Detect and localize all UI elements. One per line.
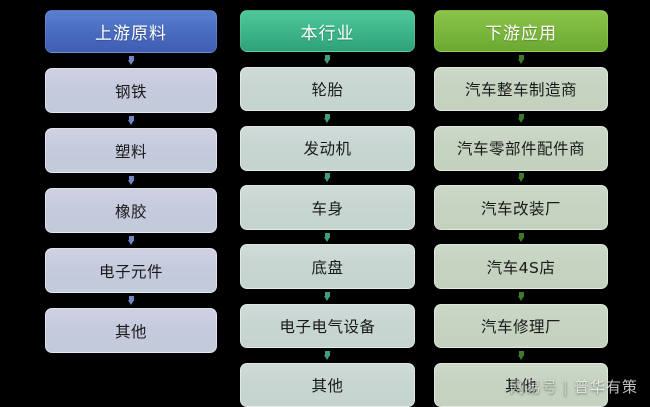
- connector-arrow: [434, 230, 608, 245]
- down-arrow-icon: [128, 116, 135, 125]
- node-industry-4[interactable]: 底盘: [240, 244, 415, 288]
- down-arrow-icon: [128, 176, 135, 185]
- down-arrow-icon: [518, 292, 525, 301]
- node-upstream-1[interactable]: 钢铁: [45, 68, 217, 113]
- connector-arrow: [240, 230, 415, 245]
- supply-chain-diagram: 上游原料 钢铁 塑料 橡胶 电子元件 其他 本行业 轮胎 发动机 车身 底盘 电…: [0, 0, 650, 407]
- down-arrow-icon: [324, 351, 331, 360]
- down-arrow-icon: [324, 233, 331, 242]
- connector-arrow: [45, 173, 217, 188]
- connector-arrow: [45, 113, 217, 128]
- connector-arrow: [434, 289, 608, 304]
- connector-arrow: [45, 233, 217, 248]
- down-arrow-icon: [128, 236, 135, 245]
- down-arrow-icon: [518, 114, 525, 123]
- node-downstream-4[interactable]: 汽车4S店: [434, 244, 608, 288]
- column-header-upstream: 上游原料: [45, 10, 217, 53]
- node-industry-1[interactable]: 轮胎: [240, 67, 415, 111]
- down-arrow-icon: [518, 351, 525, 360]
- connector-arrow: [240, 171, 415, 186]
- node-upstream-3[interactable]: 橡胶: [45, 188, 217, 233]
- connector-arrow: [240, 289, 415, 304]
- column-header-industry: 本行业: [240, 10, 415, 52]
- down-arrow-icon: [518, 233, 525, 242]
- down-arrow-icon: [324, 173, 331, 182]
- connector-arrow: [240, 348, 415, 363]
- node-upstream-4[interactable]: 电子元件: [45, 248, 217, 293]
- column-header-downstream: 下游应用: [434, 10, 608, 52]
- node-upstream-2[interactable]: 塑料: [45, 128, 217, 173]
- connector-arrow: [240, 111, 415, 126]
- connector-arrow: [434, 52, 608, 67]
- node-downstream-1[interactable]: 汽车整车制造商: [434, 67, 608, 111]
- column-upstream: 上游原料 钢铁 塑料 橡胶 电子元件 其他: [45, 10, 217, 407]
- node-industry-5[interactable]: 电子电气设备: [240, 304, 415, 348]
- down-arrow-icon: [128, 296, 135, 305]
- down-arrow-icon: [518, 173, 525, 182]
- down-arrow-icon: [324, 292, 331, 301]
- down-arrow-icon: [518, 55, 525, 64]
- connector-arrow: [45, 53, 217, 68]
- node-downstream-2[interactable]: 汽车零部件配件商: [434, 126, 608, 170]
- connector-arrow: [240, 52, 415, 67]
- node-upstream-5[interactable]: 其他: [45, 308, 217, 353]
- node-industry-3[interactable]: 车身: [240, 185, 415, 229]
- connector-arrow: [434, 111, 608, 126]
- connector-arrow: [434, 348, 608, 363]
- down-arrow-icon: [128, 56, 135, 65]
- column-downstream: 下游应用 汽车整车制造商 汽车零部件配件商 汽车改装厂 汽车4S店 汽车修理厂 …: [434, 10, 608, 407]
- node-industry-2[interactable]: 发动机: [240, 126, 415, 170]
- connector-arrow: [45, 293, 217, 308]
- node-downstream-3[interactable]: 汽车改装厂: [434, 185, 608, 229]
- down-arrow-icon: [324, 55, 331, 64]
- node-downstream-5[interactable]: 汽车修理厂: [434, 304, 608, 348]
- node-industry-6[interactable]: 其他: [240, 363, 415, 407]
- column-industry: 本行业 轮胎 发动机 车身 底盘 电子电气设备 其他: [240, 10, 415, 407]
- down-arrow-icon: [324, 114, 331, 123]
- node-downstream-6[interactable]: 其他: [434, 363, 608, 407]
- connector-arrow: [434, 171, 608, 186]
